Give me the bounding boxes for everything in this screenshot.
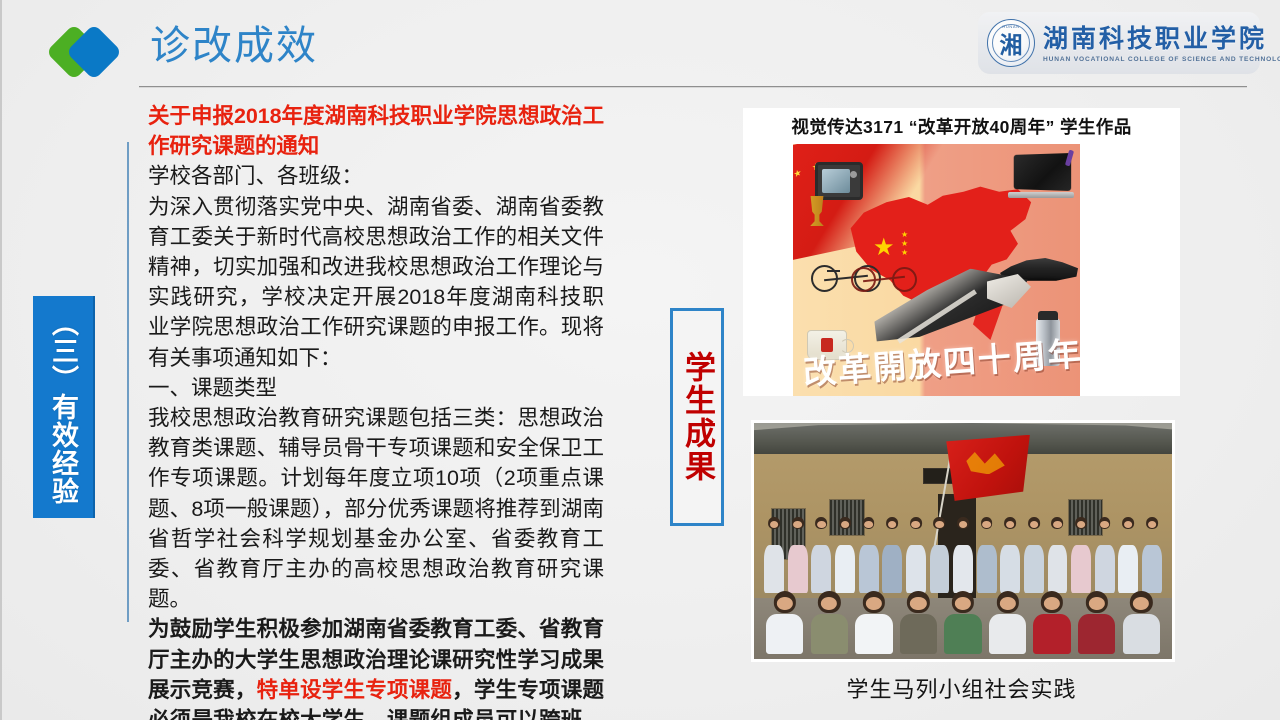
university-emblem-text: 湖南科技职业学院 HUNAN VOCATIONAL COLLEGE OF SCI…	[1043, 24, 1280, 63]
photo-back-row	[762, 517, 1163, 593]
callout-label: 学生成果	[678, 351, 716, 483]
university-emblem: HUNAN 湘 湖南科技职业学院 HUNAN VOCATIONAL COLLEG…	[978, 12, 1260, 74]
photo-person	[762, 591, 807, 655]
photo-front-row	[762, 591, 1163, 655]
photo-person	[852, 591, 897, 655]
photo-person	[998, 517, 1022, 593]
photo-person	[1046, 517, 1070, 593]
section-tab-effective-experience: （三）有效经验	[33, 296, 95, 518]
star-dots-icon: ★★★	[901, 230, 908, 257]
poster-artwork: ★ ★★★ 改革開放四十周年	[793, 144, 1080, 396]
document-paragraph-1: 为深入贯彻落实党中央、湖南省委、湖南省委教育工委关于新时代高校思想政治工作的相关…	[148, 192, 604, 373]
group-photo-icon	[754, 423, 1172, 659]
photo-person	[833, 517, 857, 593]
photo-person	[786, 517, 810, 593]
retro-tv-icon	[815, 162, 863, 200]
document-paragraph-0: 学校各部门、各班级：	[148, 161, 604, 191]
photo-person	[1117, 517, 1141, 593]
photo-person	[896, 591, 941, 655]
red-flag-icon	[946, 435, 1030, 501]
photo-person	[1022, 517, 1046, 593]
photo-person	[1140, 517, 1164, 593]
university-name-en: HUNAN VOCATIONAL COLLEGE OF SCIENCE AND …	[1043, 56, 1280, 63]
photo-person	[762, 517, 786, 593]
laptop-icon	[1008, 154, 1074, 198]
photo-person	[975, 517, 999, 593]
document-title: 关于申报2018年度湖南科技职业学院思想政治工作研究课题的通知	[148, 101, 604, 161]
photo-person	[941, 591, 986, 655]
document-emphasis-paragraph: 为鼓励学生积极参加湖南省委教育工委、省教育厅主办的大学生思想政治理论课研究性学习…	[148, 614, 604, 720]
photo-person	[985, 591, 1030, 655]
university-name-cn: 湖南科技职业学院	[1043, 24, 1280, 54]
photo-person	[951, 517, 975, 593]
section-tab-label: （三）有效经验	[46, 309, 80, 505]
emphasis-highlight-1: 特单设学生专项课题	[257, 678, 453, 702]
photo-person	[1074, 591, 1119, 655]
document-paragraph-3: 我校思想政治教育研究课题包括三类：思想政治教育类课题、辅导员骨干专项课题和安全保…	[148, 403, 604, 614]
photo-person	[1093, 517, 1117, 593]
photo-caption: 学生马列小组社会实践	[743, 672, 1180, 704]
photo-person	[1069, 517, 1093, 593]
photo-person	[807, 591, 852, 655]
double-diamond-logo-icon	[54, 26, 124, 78]
seal-glyph: 湘	[988, 20, 1034, 66]
photo-person	[1030, 591, 1075, 655]
document-text-block: 关于申报2018年度湖南科技职业学院思想政治工作研究课题的通知 学校各部门、各班…	[148, 101, 604, 720]
photo-person	[1119, 591, 1164, 655]
page-title: 诊改成效	[150, 20, 318, 72]
group-photo-card	[751, 420, 1175, 662]
slide-header: 诊改成效 HUNAN 湘 湖南科技职业学院 HUNAN VOCATIONAL C…	[2, 0, 1280, 92]
photo-person	[857, 517, 881, 593]
photo-person	[810, 517, 834, 593]
photo-person	[928, 517, 952, 593]
title-divider	[139, 86, 1247, 88]
photo-person	[880, 517, 904, 593]
student-poster-card: 视觉传达3171 “改革开放40周年” 学生作品 ★ ★★★ 改革開放四十周年	[743, 108, 1180, 396]
document-paragraph-2: 一、课题类型	[148, 373, 604, 403]
student-achievement-callout: 学生成果	[670, 308, 724, 526]
photo-person	[904, 517, 928, 593]
poster-caption: 视觉传达3171 “改革开放40周年” 学生作品	[743, 114, 1180, 139]
body-accent-line	[127, 142, 129, 622]
university-seal-icon: HUNAN 湘	[987, 19, 1035, 67]
